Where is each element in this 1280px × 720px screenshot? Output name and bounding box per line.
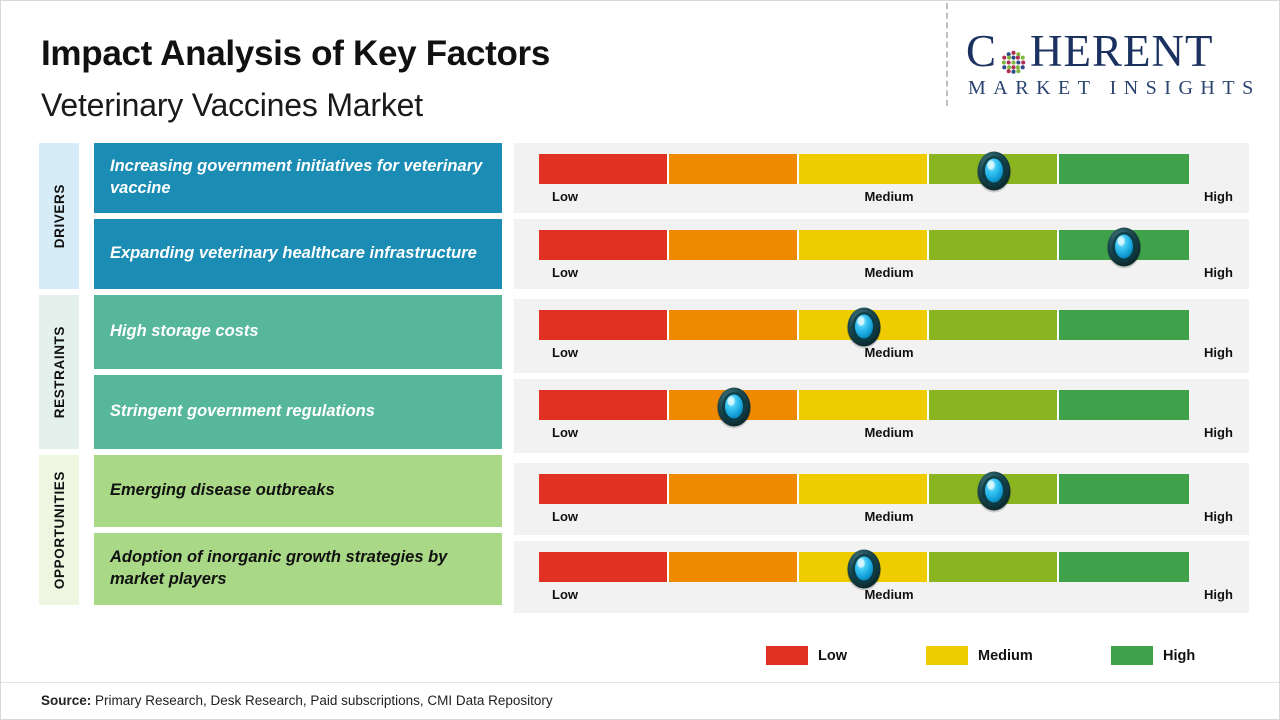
scale-segment-3	[799, 154, 929, 184]
scale-segment-2	[669, 474, 799, 504]
logo-wordmark: C	[966, 25, 1266, 77]
impact-scale-bar	[539, 310, 1189, 340]
scale-segment-5	[1059, 390, 1189, 420]
group-cards-drivers: Increasing government initiatives for ve…	[94, 143, 502, 289]
scale-label-high: High	[1204, 265, 1233, 280]
scale-labels: LowMediumHigh	[539, 265, 1239, 285]
logo-letter-c: C	[966, 25, 997, 77]
scale-segment-1	[539, 230, 669, 260]
scale-label-low: Low	[552, 587, 578, 602]
gauge-row: LowMediumHigh	[514, 143, 1249, 213]
scale-segment-4	[929, 154, 1059, 184]
scale-labels: LowMediumHigh	[539, 509, 1239, 529]
scale-segment-5	[1059, 474, 1189, 504]
header-dashed-divider	[946, 3, 948, 106]
scale-label-medium: Medium	[864, 587, 913, 602]
impact-scale-bar	[539, 390, 1189, 420]
group-opportunities: OPPORTUNITIES Emerging disease outbreaks…	[39, 455, 502, 605]
scale-label-high: High	[1204, 189, 1233, 204]
page-subtitle: Veterinary Vaccines Market	[41, 87, 423, 124]
scale-label-high: High	[1204, 587, 1233, 602]
impact-scale-bar	[539, 552, 1189, 582]
scale-segment-2	[669, 310, 799, 340]
scale-label-high: High	[1204, 509, 1233, 524]
page-title: Impact Analysis of Key Factors	[41, 34, 550, 74]
group-label-text: OPPORTUNITIES	[52, 471, 67, 589]
impact-scale-bar	[539, 154, 1189, 184]
scale-segment-2	[669, 552, 799, 582]
gauge-row: LowMediumHigh	[514, 219, 1249, 289]
legend-label: Low	[818, 648, 847, 664]
group-label-text: DRIVERS	[52, 184, 67, 248]
scale-segment-1	[539, 552, 669, 582]
scale-segment-2	[669, 390, 799, 420]
scale-label-low: Low	[552, 509, 578, 524]
scale-segment-1	[539, 310, 669, 340]
gauge-row: LowMediumHigh	[514, 463, 1249, 535]
scale-segment-5	[1059, 154, 1189, 184]
source-text: Primary Research, Desk Research, Paid su…	[91, 693, 552, 708]
scale-segment-4	[929, 390, 1059, 420]
gauge-row: LowMediumHigh	[514, 541, 1249, 613]
factor-card[interactable]: Expanding veterinary healthcare infrastr…	[94, 219, 502, 289]
coherent-market-insights-logo: C	[966, 25, 1266, 103]
scale-label-medium: Medium	[864, 265, 913, 280]
logo-word-rest: HERENT	[1030, 25, 1213, 77]
group-restraints: RESTRAINTS High storage costs Stringent …	[39, 295, 502, 449]
scale-segment-1	[539, 390, 669, 420]
legend: LowMediumHigh	[766, 646, 1196, 670]
scale-labels: LowMediumHigh	[539, 189, 1239, 209]
factor-card[interactable]: Stringent government regulations	[94, 375, 502, 449]
legend-label: Medium	[978, 648, 1033, 664]
scale-label-medium: Medium	[864, 345, 913, 360]
scale-segment-4	[929, 474, 1059, 504]
source-note: Source: Primary Research, Desk Research,…	[41, 693, 553, 708]
factor-card[interactable]: Increasing government initiatives for ve…	[94, 143, 502, 213]
factor-card[interactable]: Emerging disease outbreaks	[94, 455, 502, 527]
scale-segment-1	[539, 474, 669, 504]
group-drivers: DRIVERS Increasing government initiative…	[39, 143, 502, 289]
scale-labels: LowMediumHigh	[539, 425, 1239, 445]
legend-swatch	[926, 646, 968, 665]
scale-segment-4	[929, 552, 1059, 582]
impact-scale-bar	[539, 474, 1189, 504]
gauge-row: LowMediumHigh	[514, 299, 1249, 373]
scale-label-medium: Medium	[864, 425, 913, 440]
legend-item: High	[1111, 646, 1195, 665]
group-label-drivers: DRIVERS	[39, 143, 79, 289]
scale-segment-2	[669, 154, 799, 184]
group-cards-restraints: High storage costs Stringent government …	[94, 295, 502, 449]
scale-label-low: Low	[552, 425, 578, 440]
scale-segment-5	[1059, 552, 1189, 582]
group-label-opportunities: OPPORTUNITIES	[39, 455, 79, 605]
group-label-restraints: RESTRAINTS	[39, 295, 79, 449]
scale-label-high: High	[1204, 425, 1233, 440]
group-label-text: RESTRAINTS	[52, 326, 67, 418]
legend-swatch	[766, 646, 808, 665]
factor-card[interactable]: High storage costs	[94, 295, 502, 369]
group-cards-opportunities: Emerging disease outbreaks Adoption of i…	[94, 455, 502, 605]
slide-canvas: Impact Analysis of Key Factors Veterinar…	[0, 0, 1280, 720]
scale-label-low: Low	[552, 345, 578, 360]
scale-label-medium: Medium	[864, 189, 913, 204]
scale-segment-3	[799, 474, 929, 504]
gauge-row: LowMediumHigh	[514, 379, 1249, 453]
scale-label-low: Low	[552, 265, 578, 280]
scale-segment-3	[799, 310, 929, 340]
scale-segment-3	[799, 390, 929, 420]
scale-label-medium: Medium	[864, 509, 913, 524]
scale-label-low: Low	[552, 189, 578, 204]
scale-segment-5	[1059, 310, 1189, 340]
footer-divider	[1, 682, 1279, 683]
factor-groups: DRIVERS Increasing government initiative…	[39, 143, 502, 611]
source-label: Source:	[41, 693, 91, 708]
dotted-globe-icon	[998, 37, 1029, 68]
scale-segment-1	[539, 154, 669, 184]
impact-gauges: LowMediumHighLowMediumHighLowMediumHighL…	[514, 143, 1249, 619]
scale-labels: LowMediumHigh	[539, 345, 1239, 365]
scale-segment-3	[799, 552, 929, 582]
legend-swatch	[1111, 646, 1153, 665]
scale-segment-4	[929, 310, 1059, 340]
scale-segment-4	[929, 230, 1059, 260]
scale-segment-2	[669, 230, 799, 260]
factor-card[interactable]: Adoption of inorganic growth strategies …	[94, 533, 502, 605]
logo-tagline: MARKET INSIGHTS	[968, 77, 1261, 100]
scale-labels: LowMediumHigh	[539, 587, 1239, 607]
legend-item: Medium	[926, 646, 1033, 665]
legend-item: Low	[766, 646, 847, 665]
legend-label: High	[1163, 648, 1195, 664]
scale-label-high: High	[1204, 345, 1233, 360]
scale-segment-3	[799, 230, 929, 260]
impact-scale-bar	[539, 230, 1189, 260]
scale-segment-5	[1059, 230, 1189, 260]
